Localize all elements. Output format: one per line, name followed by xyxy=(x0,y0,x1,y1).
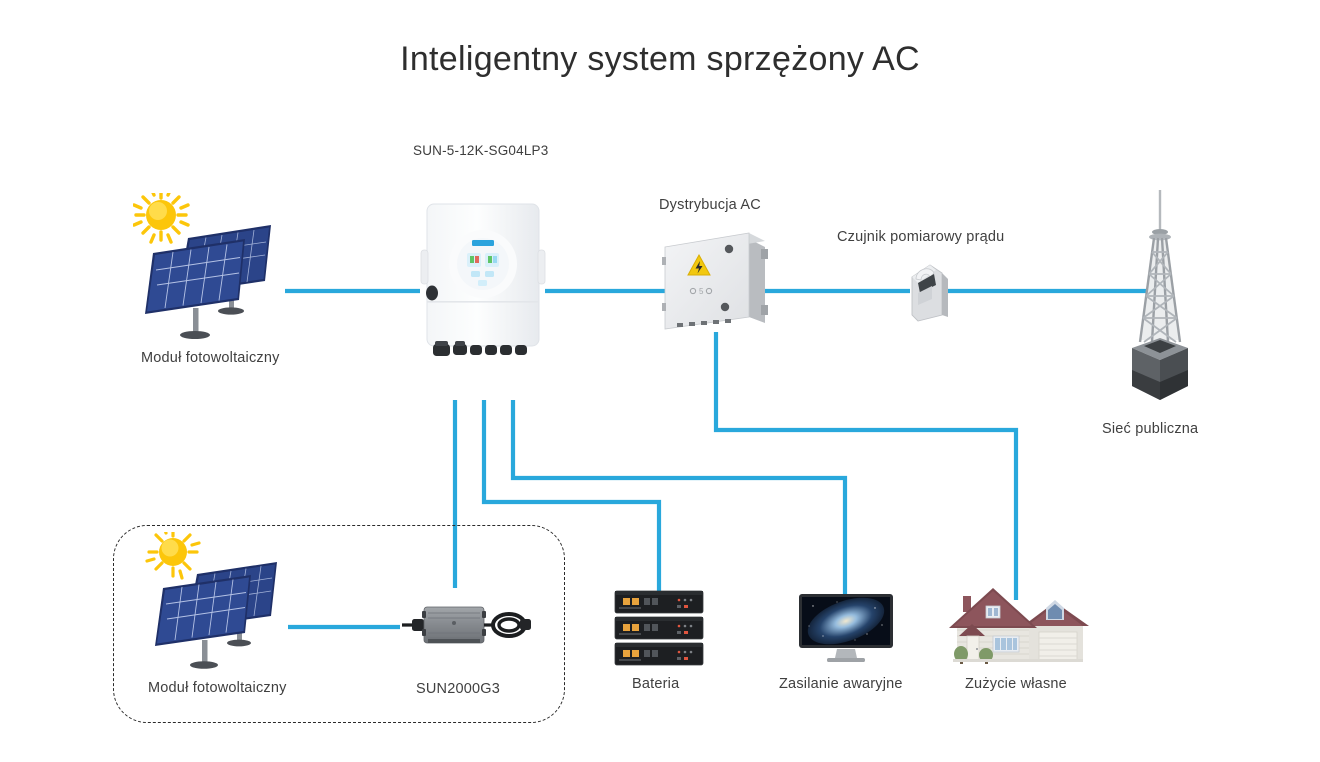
sun-icon xyxy=(134,193,188,242)
battery-rack xyxy=(613,589,705,667)
current-sensor xyxy=(896,255,956,327)
diagram-canvas: Inteligentny system sprzężony AC SUN-5-1… xyxy=(0,0,1320,762)
pv-array-bottom-label: Moduł fotowoltaiczny xyxy=(148,680,287,696)
microinverter-icon xyxy=(398,595,533,657)
sun-icon xyxy=(147,532,199,578)
grid-tower-label: Sieć publiczna xyxy=(1102,421,1198,437)
solar-panel-icon xyxy=(145,532,315,674)
hybrid-inverter xyxy=(415,198,555,366)
ac-distribution-box-icon: 5 xyxy=(655,225,780,335)
hybrid-inverter-icon xyxy=(415,198,555,366)
monitor-icon xyxy=(797,592,895,664)
backup-monitor xyxy=(797,592,895,664)
battery-rack-icon xyxy=(613,589,705,667)
house-label: Zużycie własne xyxy=(965,676,1067,692)
current-clamp-icon xyxy=(896,255,956,327)
house-icon xyxy=(943,580,1089,668)
microinverter-label: SUN2000G3 xyxy=(416,681,500,697)
current-sensor-label: Czujnik pomiarowy prądu xyxy=(837,229,1004,245)
svg-text:5: 5 xyxy=(699,287,704,296)
pv-array-top-label: Moduł fotowoltaiczny xyxy=(141,350,280,366)
microinverter xyxy=(398,595,533,657)
ac-distribution-box-label: Dystrybucja AC xyxy=(659,197,761,213)
pv-array-top xyxy=(133,193,313,343)
house xyxy=(943,580,1089,668)
backup-monitor-label: Zasilanie awaryjne xyxy=(779,676,903,692)
solar-panel-icon xyxy=(133,193,313,343)
ac-distribution-box: 5 xyxy=(655,225,780,335)
grid-tower xyxy=(1118,190,1202,412)
transmission-tower-icon xyxy=(1118,190,1202,412)
battery-label: Bateria xyxy=(632,676,679,692)
pv-array-bottom xyxy=(145,532,315,674)
